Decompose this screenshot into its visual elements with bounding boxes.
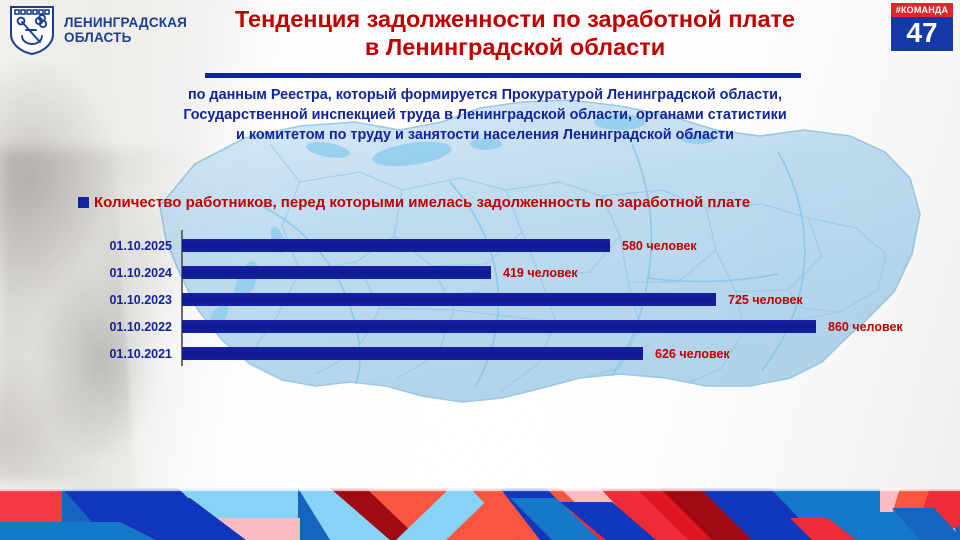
chart-category-label: 01.10.2022 — [12, 320, 172, 334]
chart-row: 01.10.2022860 человек — [0, 313, 960, 340]
page-title-line-1: Тенденция задолженности по заработной пл… — [170, 5, 860, 33]
subtitle: по данным Реестра, который формируется П… — [130, 85, 840, 145]
decorative-chevron-band — [0, 488, 960, 540]
emblem-line-2: ОБЛАСТЬ — [64, 30, 187, 45]
chart-row: 01.10.2025580 человек — [0, 232, 960, 259]
chart-row: 01.10.2021626 человек — [0, 340, 960, 367]
legend-series-label: Количество работников, перед которыми им… — [94, 194, 750, 211]
leningrad-oblast-emblem: ЛЕНИНГРАДСКАЯ ОБЛАСТЬ — [8, 4, 187, 56]
komanda-47-badge: #КОМАНДА 47 — [891, 3, 953, 51]
komanda-badge-top: #КОМАНДА — [891, 3, 953, 17]
title-divider — [205, 73, 801, 78]
emblem-line-1: ЛЕНИНГРАДСКАЯ — [64, 15, 187, 30]
chart-row: 01.10.2023725 человек — [0, 286, 960, 313]
page-title-line-2: в Ленинградской области — [170, 33, 860, 61]
chart-bar[interactable] — [182, 347, 643, 360]
chart-category-label: 01.10.2024 — [12, 266, 172, 280]
chart-value-label: 626 человек — [655, 347, 730, 361]
bar-chart: 01.10.2025580 человек01.10.2024419 челов… — [0, 226, 960, 368]
chart-value-label: 860 человек — [828, 320, 903, 334]
chart-bar[interactable] — [182, 266, 491, 279]
chart-row: 01.10.2024419 человек — [0, 259, 960, 286]
chart-category-label: 01.10.2021 — [12, 347, 172, 361]
band-top-fade — [0, 488, 960, 492]
chart-legend: Количество работников, перед которыми им… — [78, 194, 750, 211]
chart-bar[interactable] — [182, 293, 716, 306]
subtitle-line-1: по данным Реестра, который формируется П… — [130, 85, 840, 105]
chart-category-label: 01.10.2025 — [12, 239, 172, 253]
subtitle-line-2: Государственной инспекцией труда в Ленин… — [130, 105, 840, 125]
chart-category-label: 01.10.2023 — [12, 293, 172, 307]
komanda-badge-number: 47 — [891, 17, 953, 51]
coat-of-arms-icon — [8, 4, 56, 56]
chart-value-label: 419 человек — [503, 266, 578, 280]
chart-value-label: 725 человек — [728, 293, 803, 307]
emblem-text: ЛЕНИНГРАДСКАЯ ОБЛАСТЬ — [64, 15, 187, 45]
legend-swatch-icon — [78, 197, 89, 208]
subtitle-line-3: и комитетом по труду и занятости населен… — [130, 125, 840, 145]
page-title: Тенденция задолженности по заработной пл… — [170, 5, 860, 61]
slide-root: ЛЕНИНГРАДСКАЯ ОБЛАСТЬ #КОМАНДА 47 Тенден… — [0, 0, 960, 540]
chart-bar[interactable] — [182, 320, 816, 333]
chart-value-label: 580 человек — [622, 239, 697, 253]
chart-bar[interactable] — [182, 239, 610, 252]
